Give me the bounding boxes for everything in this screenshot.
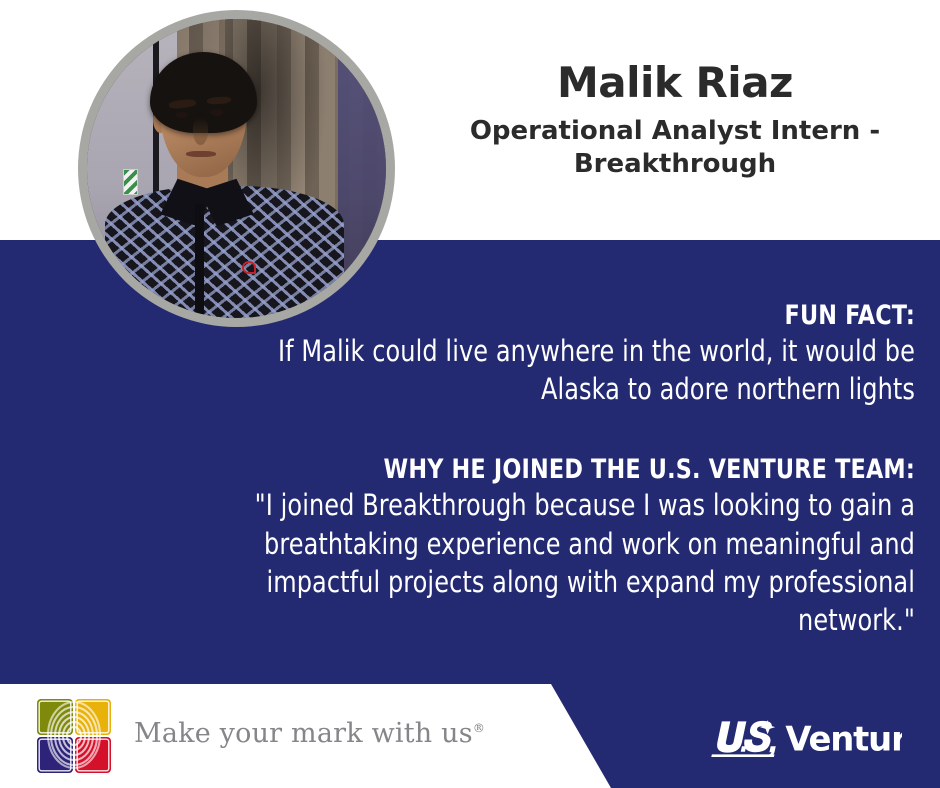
fun-fact-body: If Malik could live anywhere in the worl… [202, 332, 915, 409]
spotlight-content: FUN FACT: If Malik could live anywhere i… [140, 300, 915, 639]
avatar [78, 10, 395, 327]
name-block: Malik Riaz Operational Analyst Intern - … [430, 62, 920, 181]
photo-sign-post [123, 169, 138, 196]
svg-text:Venture: Venture [785, 720, 902, 759]
why-joined-body: "I joined Breakthrough because I was loo… [202, 486, 915, 639]
why-joined-label: WHY HE JOINED THE U.S. VENTURE TEAM: [202, 454, 915, 486]
us-venture-logo: Venture [706, 716, 902, 758]
photo-shirt-emblem [242, 261, 256, 274]
page-title: Malik Riaz [430, 62, 920, 105]
photo-shirt-placket [195, 204, 205, 318]
photo-nose [193, 118, 208, 145]
avatar-image [87, 19, 386, 318]
photo-mouth [186, 151, 216, 157]
photo-eye-left [175, 112, 188, 119]
brand-tagline-text: Make your mark with us [134, 718, 473, 749]
section-divider [140, 408, 915, 454]
photo-right-panel [338, 19, 386, 318]
person-job-title: Operational Analyst Intern - Breakthroug… [430, 115, 920, 182]
registered-trademark-icon: ® [473, 721, 485, 735]
employee-spotlight-card: Malik Riaz Operational Analyst Intern - … [0, 0, 940, 788]
fingerprint-quadrant-logo-icon [37, 699, 111, 773]
brand-tagline: Make your mark with us® [134, 718, 485, 749]
photo-eye-right [211, 109, 223, 115]
